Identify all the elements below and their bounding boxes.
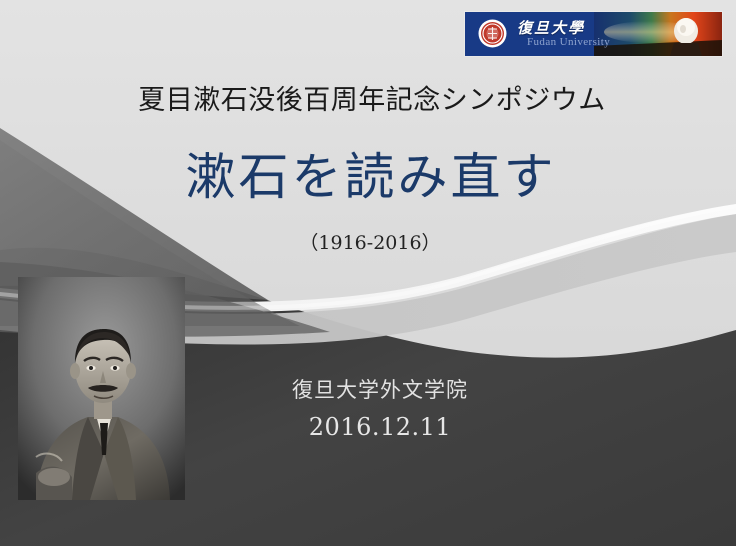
presentation-slide: 復旦大學 Fudan University 夏目漱石没後百周年記念シンポジウム … — [0, 0, 736, 546]
event-date: 2016.12.11 — [180, 412, 580, 442]
affiliation-text: 復旦大学外文学院 — [180, 376, 580, 404]
year-range-subtitle: （1916-2016） — [0, 230, 736, 256]
fudan-seal-icon — [477, 18, 508, 49]
banner-sunset-photo — [594, 12, 722, 56]
banner-chinese-name: 復旦大學 — [517, 17, 585, 38]
portrait-photo — [18, 277, 185, 500]
page-title: 漱石を読み直す — [0, 146, 736, 208]
natsume-soseki-portrait — [18, 277, 185, 500]
banner-english-name: Fudan University — [527, 36, 610, 48]
fudan-university-banner: 復旦大學 Fudan University — [465, 12, 722, 56]
symposium-title: 夏目漱石没後百周年記念シンポジウム — [0, 84, 736, 118]
